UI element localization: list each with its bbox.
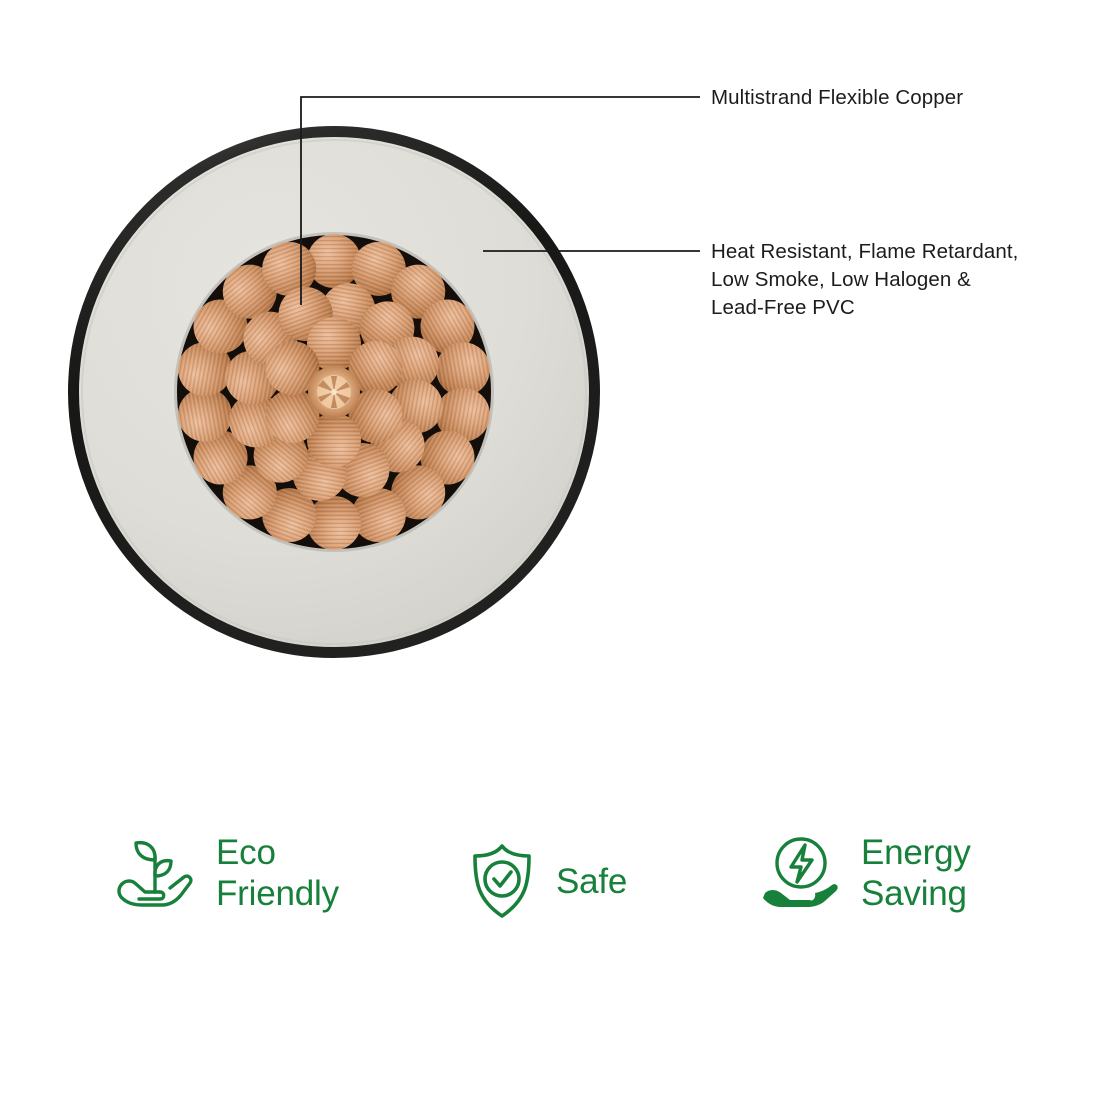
cable-cross-section-diagram — [0, 0, 700, 720]
badge-safe: Safe — [466, 842, 627, 920]
badge-eco-friendly-label: Eco Friendly — [216, 832, 339, 914]
hand-holding-energy-bolt-icon — [757, 830, 843, 916]
label-pvc-insulation: Heat Resistant, Flame Retardant, Low Smo… — [711, 238, 1018, 322]
badge-energy-saving-label: Energy Saving — [861, 832, 971, 914]
feature-badge-row: Eco Friendly Safe Ene — [0, 812, 1100, 952]
strand-center — [308, 366, 360, 418]
badge-energy-saving: Energy Saving — [757, 830, 971, 916]
label-multistrand-flexible-copper: Multistrand Flexible Copper — [711, 84, 963, 112]
hand-holding-sprout-icon — [112, 830, 198, 916]
conductor-bundle — [174, 232, 495, 552]
shield-check-icon — [466, 842, 538, 920]
infographic-canvas: Multistrand Flexible Copper Heat Resista… — [0, 0, 1100, 1100]
badge-safe-label: Safe — [556, 861, 627, 902]
badge-eco-friendly: Eco Friendly — [112, 830, 339, 916]
